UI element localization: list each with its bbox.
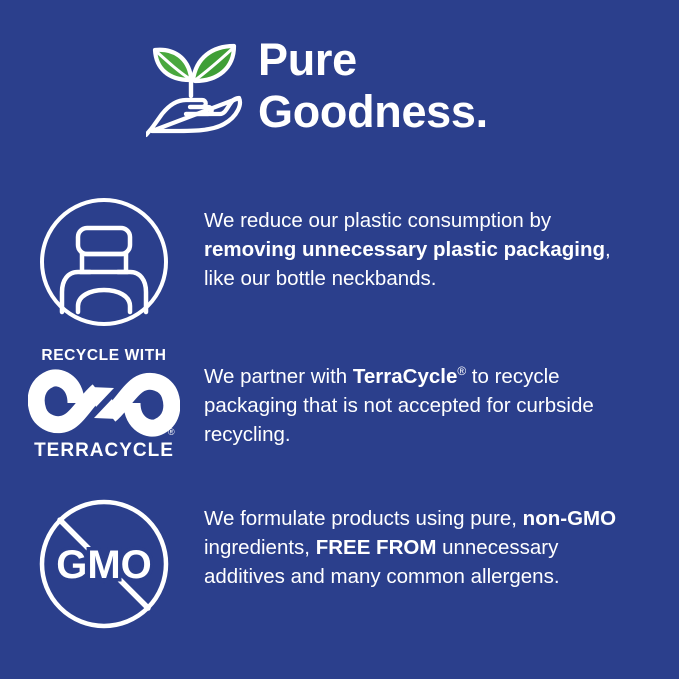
feature-row-terracycle: RECYCLE WITH ® TERRACYCLE: [0, 348, 679, 460]
text-segment-bold: non-GMO: [523, 507, 616, 530]
registered-mark: ®: [457, 364, 466, 378]
pure-goodness-poster: Pure Goodness. We reduce our plastic con…: [0, 0, 679, 679]
feature-text-plastic-reduction: We reduce our plastic consumption by rem…: [204, 196, 642, 293]
feature-icon-slot: GMO: [0, 498, 204, 630]
text-segment-bold: TerraCycle: [353, 365, 457, 388]
feature-row-non-gmo: GMO We formulate products using pure, no…: [0, 498, 679, 630]
text-segment: We reduce our plastic consumption by: [204, 209, 551, 232]
hand-holding-sprout-logo: [146, 36, 250, 140]
text-segment: ingredients,: [204, 536, 316, 559]
terracycle-logo-bottom-text: TERRACYCLE: [34, 441, 174, 460]
text-segment: We partner with: [204, 365, 353, 388]
feature-icon-slot: [0, 196, 204, 328]
gmo-label: GMO: [56, 543, 152, 587]
registered-mark: ®: [168, 427, 175, 437]
terracycle-logo: RECYCLE WITH ® TERRACYCLE: [28, 348, 180, 460]
text-segment-bold: FREE FROM: [316, 536, 437, 559]
feature-row-plastic-reduction: We reduce our plastic consumption by rem…: [0, 196, 679, 328]
feature-text-non-gmo: We formulate products using pure, non-GM…: [204, 498, 642, 591]
feature-text-terracycle: We partner with TerraCycle® to recycle p…: [204, 348, 642, 449]
page-title: Pure Goodness.: [258, 32, 488, 138]
poster-header: Pure Goodness.: [146, 32, 646, 154]
text-segment-bold: removing unnecessary plastic packaging: [204, 238, 605, 261]
text-segment: We formulate products using pure,: [204, 507, 523, 530]
feature-icon-slot: RECYCLE WITH ® TERRACYCLE: [0, 348, 204, 460]
no-gmo-circle-icon: GMO: [38, 498, 170, 630]
bottle-neckband-circle-icon: [38, 196, 170, 328]
recycle-infinity-loop-icon: ®: [28, 367, 180, 439]
terracycle-logo-top-text: RECYCLE WITH: [41, 348, 166, 364]
